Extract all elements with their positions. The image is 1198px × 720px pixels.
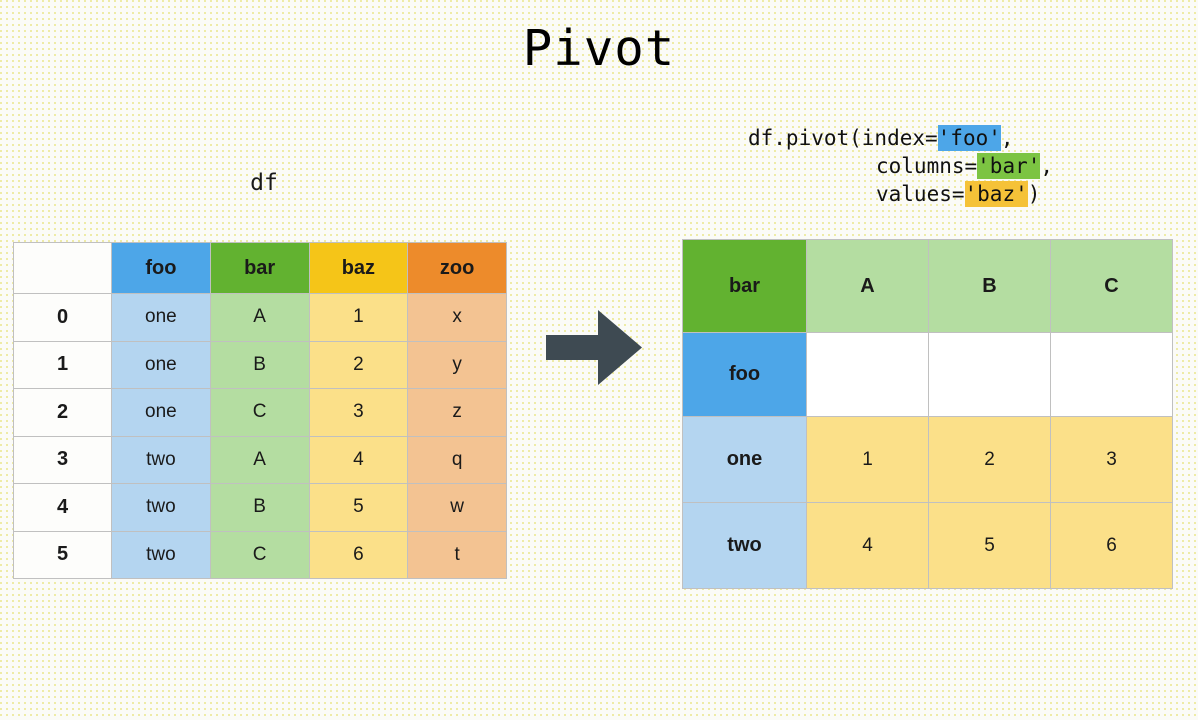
- source-cell-baz: 1: [309, 294, 408, 342]
- source-cell-zoo: z: [408, 389, 507, 437]
- source-cell-bar: B: [210, 341, 309, 389]
- source-row-index: 0: [14, 294, 112, 342]
- source-column-header-bar: bar: [210, 243, 309, 294]
- code-line-2: columns='bar',: [748, 152, 1053, 180]
- source-cell-foo: one: [112, 294, 211, 342]
- pivot-column-label-c: C: [1051, 240, 1173, 333]
- source-cell-foo: two: [112, 484, 211, 532]
- code-line-1-prefix: df.pivot(index=: [748, 126, 938, 150]
- source-cell-foo: two: [112, 436, 211, 484]
- table-row: 3 two A 4 q: [14, 436, 507, 484]
- source-cell-baz: 3: [309, 389, 408, 437]
- table-row: one 1 2 3: [683, 417, 1173, 503]
- source-cell-bar: C: [210, 389, 309, 437]
- source-cell-zoo: q: [408, 436, 507, 484]
- code-line-2-prefix: columns=: [876, 154, 977, 178]
- pivot-index-header-row: foo: [683, 333, 1173, 417]
- pivot-row-index-one: one: [683, 417, 807, 503]
- source-cell-foo: two: [112, 531, 211, 579]
- code-line-1: df.pivot(index='foo',: [748, 124, 1053, 152]
- pivot-value-cell: 2: [929, 417, 1051, 503]
- code-highlight-foo: 'foo': [938, 125, 1001, 151]
- code-highlight-baz: 'baz': [965, 181, 1028, 207]
- right-arrow-icon: [546, 310, 642, 385]
- pivot-value-cell: 5: [929, 503, 1051, 589]
- source-cell-zoo: x: [408, 294, 507, 342]
- source-cell-zoo: t: [408, 531, 507, 579]
- pivot-value-cell: 6: [1051, 503, 1173, 589]
- source-column-header-foo: foo: [112, 243, 211, 294]
- pivot-result-table: bar A B C foo one 1 2 3 two 4 5 6: [682, 239, 1173, 589]
- source-cell-bar: C: [210, 531, 309, 579]
- pivot-empty-cell: [807, 333, 929, 417]
- table-row: 1 one B 2 y: [14, 341, 507, 389]
- source-row-index: 4: [14, 484, 112, 532]
- pivot-column-label-b: B: [929, 240, 1051, 333]
- source-column-header-baz: baz: [309, 243, 408, 294]
- code-line-3-suffix: ): [1028, 182, 1041, 206]
- pivot-value-cell: 1: [807, 417, 929, 503]
- code-line-3: values='baz'): [748, 180, 1053, 208]
- pivot-columns-name: bar: [683, 240, 807, 333]
- source-cell-bar: A: [210, 436, 309, 484]
- source-table-header-row: foo bar baz zoo: [14, 243, 507, 294]
- pivot-value-cell: 4: [807, 503, 929, 589]
- source-cell-baz: 2: [309, 341, 408, 389]
- source-row-index: 1: [14, 341, 112, 389]
- pivot-empty-cell: [1051, 333, 1173, 417]
- pivot-index-name: foo: [683, 333, 807, 417]
- pivot-row-index-two: two: [683, 503, 807, 589]
- pivot-column-label-a: A: [807, 240, 929, 333]
- source-row-index: 2: [14, 389, 112, 437]
- source-cell-zoo: y: [408, 341, 507, 389]
- source-table-label: df: [234, 170, 294, 196]
- page-title: Pivot: [0, 22, 1198, 76]
- source-cell-baz: 5: [309, 484, 408, 532]
- pivot-value-cell: 3: [1051, 417, 1173, 503]
- table-row: 0 one A 1 x: [14, 294, 507, 342]
- code-line-2-suffix: ,: [1040, 154, 1053, 178]
- source-dataframe-table: foo bar baz zoo 0 one A 1 x 1 one B 2 y …: [13, 242, 507, 579]
- table-row: 4 two B 5 w: [14, 484, 507, 532]
- source-cell-foo: one: [112, 389, 211, 437]
- source-cell-zoo: w: [408, 484, 507, 532]
- source-column-header-zoo: zoo: [408, 243, 507, 294]
- code-line-3-prefix: values=: [876, 182, 965, 206]
- code-highlight-bar: 'bar': [977, 153, 1040, 179]
- source-cell-baz: 4: [309, 436, 408, 484]
- pivot-empty-cell: [929, 333, 1051, 417]
- source-cell-foo: one: [112, 341, 211, 389]
- source-table-corner-cell: [14, 243, 112, 294]
- table-row: two 4 5 6: [683, 503, 1173, 589]
- source-cell-baz: 6: [309, 531, 408, 579]
- source-cell-bar: B: [210, 484, 309, 532]
- source-cell-bar: A: [210, 294, 309, 342]
- code-line-1-suffix: ,: [1001, 126, 1014, 150]
- table-row: 2 one C 3 z: [14, 389, 507, 437]
- pivot-columns-header-row: bar A B C: [683, 240, 1173, 333]
- pivot-code-snippet: df.pivot(index='foo',columns='bar',value…: [748, 124, 1053, 208]
- source-row-index: 5: [14, 531, 112, 579]
- source-row-index: 3: [14, 436, 112, 484]
- table-row: 5 two C 6 t: [14, 531, 507, 579]
